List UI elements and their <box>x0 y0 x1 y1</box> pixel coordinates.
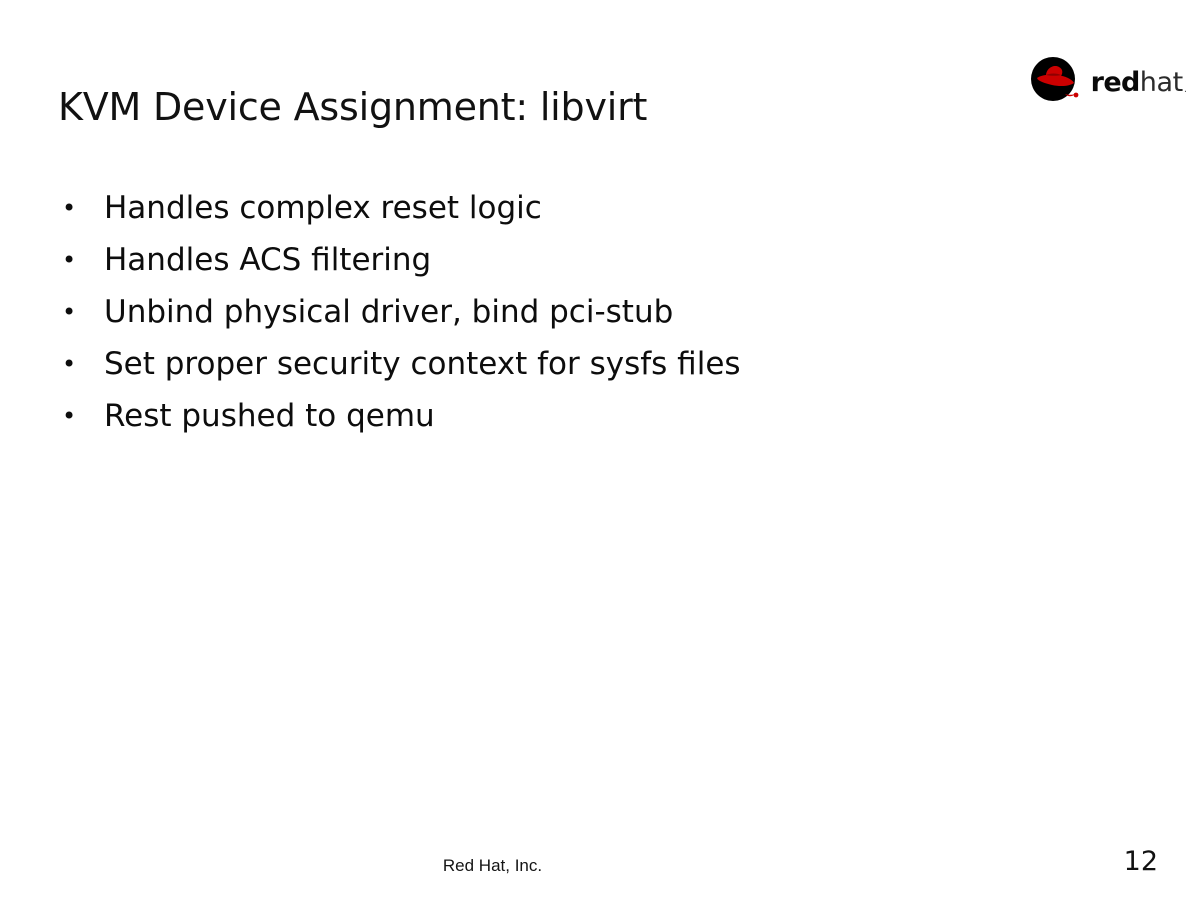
slide-title: KVM Device Assignment: libvirt <box>58 83 958 131</box>
bullet-marker-icon: • <box>56 342 104 386</box>
bullet-list: • Handles complex reset logic • Handles … <box>56 186 1096 446</box>
footer-company-name: Red Hat, Inc. <box>0 855 985 877</box>
presentation-slide: KVM Device Assignment: libvirt redhat. <box>0 0 1200 900</box>
shadowman-icon <box>1029 54 1085 106</box>
bullet-marker-icon: • <box>56 186 104 230</box>
list-item: • Unbind physical driver, bind pci-stub <box>56 290 1096 342</box>
list-item-label: Rest pushed to qemu <box>104 394 1096 438</box>
list-item-label: Unbind physical driver, bind pci-stub <box>104 290 1096 334</box>
slide-page-number: 12 <box>1124 846 1158 878</box>
red-hat-logo: redhat. <box>1006 52 1186 108</box>
logo-trademark: . <box>1184 84 1187 95</box>
logo-word-hat: hat <box>1140 67 1183 98</box>
list-item: • Set proper security context for sysfs … <box>56 342 1096 394</box>
list-item-label: Set proper security context for sysfs fi… <box>104 342 1096 386</box>
bullet-marker-icon: • <box>56 238 104 282</box>
list-item-label: Handles ACS filtering <box>104 238 1096 282</box>
list-item: • Handles ACS filtering <box>56 238 1096 290</box>
list-item-label: Handles complex reset logic <box>104 186 1096 230</box>
logo-word-red: red <box>1091 67 1140 98</box>
red-hat-wordmark: redhat. <box>1091 69 1186 96</box>
list-item: • Handles complex reset logic <box>56 186 1096 238</box>
bullet-marker-icon: • <box>56 290 104 334</box>
list-item: • Rest pushed to qemu <box>56 394 1096 446</box>
bullet-marker-icon: • <box>56 394 104 438</box>
